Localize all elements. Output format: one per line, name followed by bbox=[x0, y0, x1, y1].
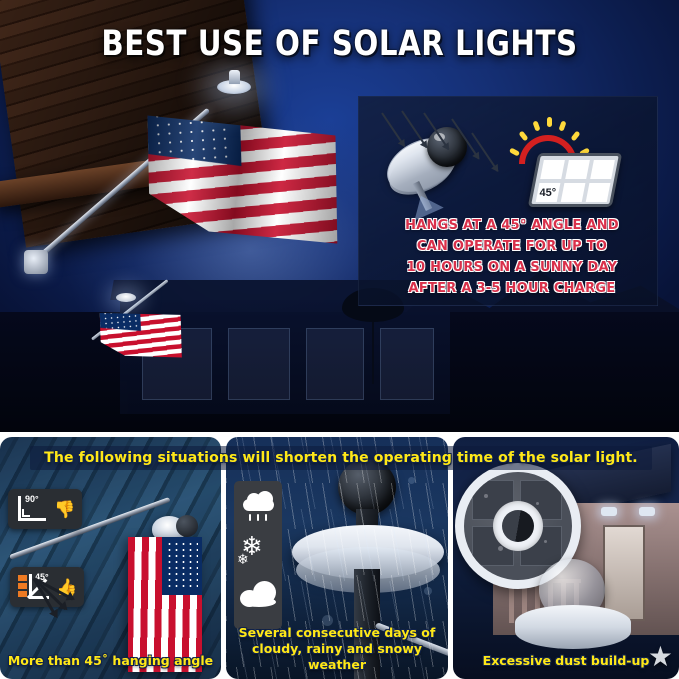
sun-ray bbox=[558, 120, 566, 131]
sun-ray bbox=[547, 117, 552, 127]
sun-ray bbox=[532, 120, 540, 131]
house-window bbox=[306, 328, 364, 400]
solar-charge-icon: 45° bbox=[499, 113, 619, 211]
house-door bbox=[603, 525, 645, 621]
panel-dust-buildup: Excessive dust build-up ★ bbox=[453, 437, 679, 679]
info-panel: 45° HANGS AT A 45° ANGLE AND CAN OPERATE… bbox=[358, 96, 658, 306]
rain-drop bbox=[249, 514, 251, 521]
panel-cell bbox=[565, 160, 590, 179]
rain-drop bbox=[257, 514, 259, 521]
badge-90-degrees: 90° 👎 bbox=[8, 489, 82, 529]
right-angle-mark bbox=[22, 509, 30, 517]
cloudy-icon bbox=[240, 581, 276, 607]
dust-speck bbox=[484, 494, 488, 498]
dust-speck bbox=[536, 502, 539, 505]
panel-caption: Excessive dust build-up bbox=[453, 653, 679, 669]
info-line: HANGS AT A 45° ANGLE AND bbox=[375, 215, 650, 236]
cloud-body bbox=[242, 597, 276, 607]
info-text-block: HANGS AT A 45° ANGLE AND CAN OPERATE FOR… bbox=[369, 215, 655, 299]
right-angle-icon: 90° bbox=[15, 494, 49, 524]
solar-panel-icon: 45° bbox=[528, 153, 622, 207]
palm-tree bbox=[372, 306, 374, 384]
panel-caption-line1: Several consecutive days of bbox=[232, 625, 442, 641]
dust-speck bbox=[498, 546, 503, 551]
rain-cloud-icon bbox=[243, 491, 274, 513]
sun-ray bbox=[570, 131, 580, 142]
hero-scene: BEST USE OF SOLAR LIGHTS bbox=[0, 0, 679, 432]
flag-pole-bracket bbox=[24, 250, 48, 274]
panel-cell bbox=[540, 160, 565, 179]
porch-light bbox=[601, 507, 617, 516]
panel-angle-label: 45° bbox=[539, 187, 556, 199]
panel-bad-weather: ❄ ❄ Several consecutive days of cloudy, … bbox=[226, 437, 448, 679]
snowflake-small-icon: ❄ bbox=[237, 551, 249, 568]
house-window bbox=[228, 328, 290, 400]
panel-cell bbox=[561, 183, 586, 202]
bottom-panels: 90° 👎 45° 👍 bbox=[0, 432, 679, 679]
rain-bokeh bbox=[424, 587, 432, 595]
panel-cell bbox=[586, 183, 611, 202]
panel-caption-line2: cloudy, rainy and snowy weather bbox=[232, 641, 442, 673]
angle-horizontal-leg bbox=[18, 518, 46, 521]
badge-angle-label: 90° bbox=[25, 494, 39, 504]
panel-cell bbox=[590, 160, 615, 179]
sun-ray bbox=[509, 147, 520, 156]
brick-block bbox=[17, 582, 28, 590]
porch-light bbox=[639, 507, 655, 516]
infographic-page: BEST USE OF SOLAR LIGHTS bbox=[0, 0, 679, 679]
brick-block bbox=[17, 574, 28, 582]
american-flag-hanging bbox=[128, 537, 202, 672]
solar-lamp-small bbox=[116, 293, 136, 302]
panel-caption: Several consecutive days of cloudy, rain… bbox=[226, 625, 448, 673]
info-line: CAN OPERATE FOR UP TO bbox=[375, 236, 650, 257]
rain-drop bbox=[265, 514, 267, 521]
lamp-bulb bbox=[176, 515, 198, 537]
flag-canton bbox=[162, 537, 202, 595]
solar-lamp-cap bbox=[229, 70, 240, 84]
rain-bokeh bbox=[408, 477, 415, 484]
sun-ray bbox=[518, 131, 528, 142]
sun-ray-arrow bbox=[381, 112, 405, 146]
weather-icon-column: ❄ ❄ bbox=[234, 481, 282, 629]
solar-light-diagram bbox=[375, 111, 499, 217]
info-line: AFTER A 3-5 HOUR CHARGE bbox=[375, 278, 650, 299]
panel-hanging-angle: 90° 👎 45° 👍 bbox=[0, 437, 221, 679]
house-window bbox=[380, 328, 434, 400]
page-title: BEST USE OF SOLAR LIGHTS bbox=[24, 24, 655, 64]
panel-caption: More than 45˚ hanging angle bbox=[0, 653, 221, 669]
panel-center-hole bbox=[493, 501, 543, 551]
info-line: 10 HOURS ON A SUNNY DAY bbox=[375, 257, 650, 278]
dust-speck bbox=[544, 540, 547, 543]
downward-force-arrows bbox=[34, 559, 80, 599]
thumbs-down-icon: 👎 bbox=[54, 501, 75, 518]
cloud-puff bbox=[257, 491, 273, 507]
star-icon: ★ bbox=[648, 643, 673, 671]
globe-base bbox=[515, 605, 631, 649]
